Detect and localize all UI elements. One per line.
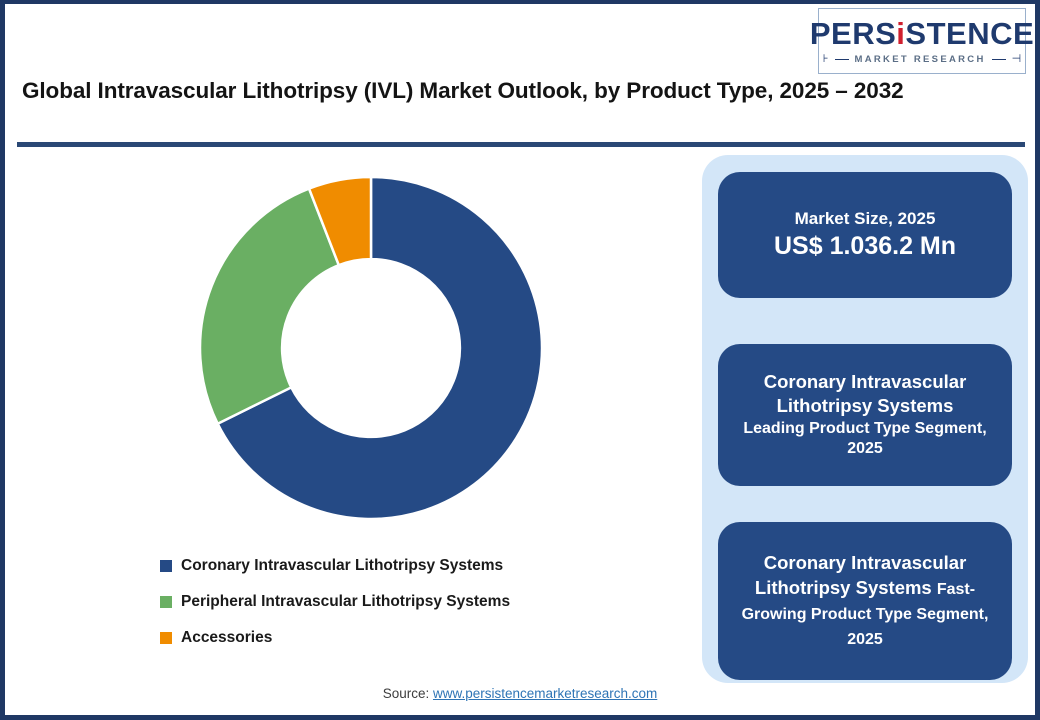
logo-wordmark-part1: PERS	[810, 16, 896, 51]
donut-chart-svg	[180, 165, 570, 535]
legend-item-coronary: Coronary Intravascular Lithotripsy Syste…	[160, 548, 680, 584]
legend-label-accessories: Accessories	[181, 629, 272, 647]
fast-growing-segment-text: Coronary Intravascular Lithotripsy Syste…	[734, 551, 996, 650]
logo-subtitle: MARKET RESEARCH	[855, 54, 986, 65]
product-type-donut-chart	[180, 165, 570, 535]
chart-legend: Coronary Intravascular Lithotripsy Syste…	[160, 548, 680, 656]
leading-segment-name: Coronary Intravascular Lithotripsy Syste…	[734, 370, 996, 419]
bracket-left-icon: ⊦	[823, 54, 829, 65]
legend-swatch-coronary	[160, 560, 172, 572]
logo-rule-right	[992, 59, 1006, 60]
legend-item-peripheral: Peripheral Intravascular Lithotripsy Sys…	[160, 584, 680, 620]
legend-swatch-peripheral	[160, 596, 172, 608]
legend-label-peripheral: Peripheral Intravascular Lithotripsy Sys…	[181, 593, 510, 611]
frame-border-right	[1035, 0, 1040, 720]
infographic-page: PERSiSTENCE ⊦ MARKET RESEARCH ⊣ Global I…	[0, 0, 1040, 720]
frame-border-left	[0, 0, 5, 720]
bracket-right-icon: ⊣	[1012, 54, 1022, 65]
logo-subtitle-row: ⊦ MARKET RESEARCH ⊣	[819, 54, 1025, 65]
donut-slice-2	[200, 189, 339, 424]
logo-wordmark-part2: STENCE	[905, 16, 1034, 51]
fast-growing-segment-name: Coronary Intravascular Lithotripsy Syste…	[755, 552, 966, 598]
fast-growing-segment-card: Coronary Intravascular Lithotripsy Syste…	[718, 522, 1012, 680]
market-size-label: Market Size, 2025	[795, 208, 936, 229]
source-prefix: Source:	[383, 686, 433, 701]
frame-border-bottom	[0, 715, 1040, 720]
market-size-card: Market Size, 2025 US$ 1.036.2 Mn	[718, 172, 1012, 298]
logo-wordmark: PERSiSTENCE	[810, 18, 1034, 49]
source-line: Source: www.persistencemarketresearch.co…	[0, 686, 1040, 701]
page-title: Global Intravascular Lithotripsy (IVL) M…	[22, 76, 972, 106]
title-divider	[17, 142, 1025, 147]
legend-swatch-accessories	[160, 632, 172, 644]
source-link[interactable]: www.persistencemarketresearch.com	[433, 686, 657, 701]
logo-rule-left	[835, 59, 849, 60]
market-size-value: US$ 1.036.2 Mn	[774, 231, 956, 262]
legend-item-accessories: Accessories	[160, 620, 680, 656]
persistence-market-research-logo: PERSiSTENCE ⊦ MARKET RESEARCH ⊣	[818, 8, 1026, 74]
leading-segment-caption: Leading Product Type Segment, 2025	[734, 419, 996, 461]
frame-border-top	[0, 0, 1040, 4]
leading-segment-card: Coronary Intravascular Lithotripsy Syste…	[718, 344, 1012, 486]
legend-label-coronary: Coronary Intravascular Lithotripsy Syste…	[181, 557, 503, 575]
